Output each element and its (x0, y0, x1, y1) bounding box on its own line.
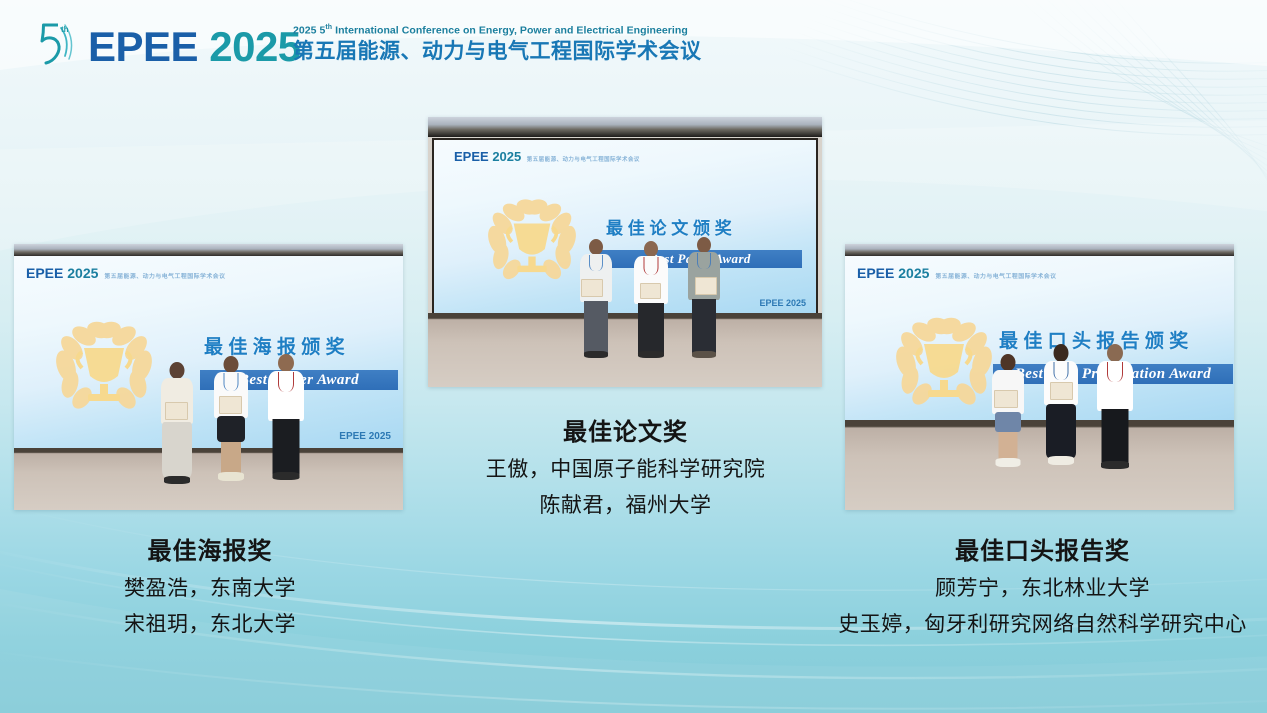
wordmark-year: 2025 (209, 23, 300, 70)
certificate (1050, 382, 1073, 400)
person-shoes (996, 458, 1021, 467)
certificate (994, 390, 1018, 408)
person-legs (217, 416, 245, 442)
screen-logo-cn: 第五届能源、动力与电气工程国际学术会议 (935, 274, 1056, 280)
caption-best-oral: 最佳口头报告奖 顾芳宁，东北林业大学 史玉婷，匈牙利研究网络自然科学研究中心 (830, 534, 1255, 642)
person-legs (273, 419, 300, 474)
caption-line-2: 史玉婷，匈牙利研究网络自然科学研究中心 (830, 606, 1255, 642)
person-lanyard (697, 253, 711, 269)
screen-logo-epee: EPEE (454, 149, 489, 164)
person-shoes (218, 472, 244, 481)
person-head (697, 237, 711, 253)
person-lower-legs (999, 432, 1018, 460)
epee-wordmark: EPEE 2025 (88, 26, 301, 68)
certificate (219, 396, 242, 414)
person-lanyard (644, 257, 659, 275)
caption-line-2: 宋祖玥，东北大学 (20, 606, 400, 642)
person-legs (1102, 409, 1129, 463)
person-head (170, 362, 185, 379)
conference-title-cn: 第五届能源、动力与电气工程国际学术会议 (293, 39, 713, 65)
person-legs (162, 422, 192, 478)
screen-footer-logo: EPEE 2025 (339, 432, 391, 442)
person-shoes (584, 351, 608, 358)
person-lanyard (589, 255, 603, 271)
screen-footer-year: 2025 (786, 298, 806, 308)
person-legs (584, 301, 608, 353)
wreath-trophy-svg (883, 314, 1005, 410)
photo-inner-best-poster: EPEE 2025 第五届能源、动力与电气工程国际学术会议 (14, 244, 403, 510)
screen-footer-epee: EPEE (339, 431, 366, 442)
person-head (644, 241, 658, 257)
screen-epee-logo: EPEE 2025 第五届能源、动力与电气工程国际学术会议 (26, 266, 225, 281)
award-photo-best-paper: EPEE 2025 第五届能源、动力与电气工程国际学术会议 (428, 117, 822, 387)
caption-line-1: 王傲，中国原子能科学研究院 (433, 451, 818, 487)
screen-epee-logo: EPEE 2025 第五届能源、动力与电气工程国际学术会议 (454, 150, 640, 163)
laurel-wreath-icon (476, 196, 588, 284)
person-head (1054, 344, 1069, 362)
screen-logo-epee: EPEE (857, 265, 894, 281)
screen-footer-epee: EPEE (759, 298, 783, 308)
person-awardee-center (212, 356, 250, 488)
person-legs (1046, 404, 1076, 458)
certificate (640, 283, 661, 299)
slide-root: th EPEE 2025 2025 5th International Conf… (0, 0, 1267, 713)
screen-epee-logo: EPEE 2025 第五届能源、动力与电气工程国际学术会议 (857, 266, 1056, 281)
award-photo-best-poster: EPEE 2025 第五届能源、动力与电气工程国际学术会议 (14, 244, 403, 510)
caption-line-2: 陈献君，福州大学 (433, 487, 818, 523)
wordmark-epee: EPEE (88, 23, 198, 70)
caption-best-poster: 最佳海报奖 樊盈浩，东南大学 宋祖玥，东北大学 (20, 534, 400, 642)
person-shoes (692, 351, 716, 358)
fifth-edition-icon: th (36, 18, 76, 70)
caption-title: 最佳口头报告奖 (830, 534, 1255, 570)
screen-footer-year: 2025 (369, 431, 391, 442)
person-head (1107, 344, 1123, 362)
stage-screen: EPEE 2025 第五届能源、动力与电气工程国际学术会议 (845, 256, 1234, 420)
conference-logo: th EPEE 2025 (36, 18, 301, 70)
stage-screen: EPEE 2025 第五届能源、动力与电气工程国际学术会议 (432, 138, 818, 316)
person-lower-legs (221, 442, 241, 474)
certificate (581, 279, 603, 297)
person-head (278, 354, 294, 372)
person-shoes (273, 472, 300, 480)
person-shoes (638, 351, 664, 358)
laurel-wreath-icon (883, 314, 1005, 410)
person-awardee-left (159, 362, 195, 488)
award-photo-best-oral: EPEE 2025 第五届能源、动力与电气工程国际学术会议 (845, 244, 1234, 510)
screen-logo-cn: 第五届能源、动力与电气工程国际学术会议 (527, 157, 640, 163)
person-shoes (1101, 461, 1129, 469)
stage-floor (428, 313, 822, 387)
photo-inner-best-oral: EPEE 2025 第五届能源、动力与电气工程国际学术会议 (845, 244, 1234, 510)
wreath-trophy-svg (476, 196, 588, 284)
person-awardee-left (990, 354, 1026, 474)
ceiling-strip (428, 117, 822, 137)
certificate (165, 402, 188, 420)
person-legs (995, 412, 1021, 432)
caption-line-1: 顾芳宁，东北林业大学 (830, 570, 1255, 606)
conference-title-block: 2025 5th International Conference on Ene… (293, 24, 713, 65)
caption-title: 最佳论文奖 (433, 415, 818, 451)
screen-footer-logo: EPEE 2025 (759, 299, 806, 308)
screen-logo-cn: 第五届能源、动力与电气工程国际学术会议 (104, 274, 225, 280)
person-presenter-right (1095, 344, 1135, 478)
person-shoes (164, 476, 190, 484)
caption-line-1: 樊盈浩，东南大学 (20, 570, 400, 606)
person-lanyard (1107, 362, 1123, 382)
person-lanyard (278, 372, 294, 392)
stage-floor (14, 448, 403, 510)
screen-award-title-cn: 最佳论文颁奖 (606, 220, 737, 237)
page-header: th EPEE 2025 2025 5th International Conf… (0, 0, 1267, 96)
conference-title-en: 2025 5th International Conference on Ene… (293, 24, 713, 37)
person-head (1001, 354, 1016, 371)
person-head (224, 356, 239, 373)
person-legs (638, 303, 664, 353)
screen-logo-year: 2025 (492, 149, 521, 164)
title-en-prefix: 2025 5 (293, 25, 325, 37)
certificate (695, 277, 717, 295)
stage-floor (845, 420, 1234, 510)
screen-logo-year: 2025 (898, 265, 929, 281)
stage-screen: EPEE 2025 第五届能源、动力与电气工程国际学术会议 (14, 256, 403, 448)
person-head (589, 239, 603, 255)
person-awardee-right (686, 237, 722, 363)
stylized-five-icon: th (36, 18, 76, 70)
person-awardee-center (1042, 344, 1080, 474)
laurel-wreath-icon (42, 318, 166, 414)
person-legs (692, 299, 716, 353)
person-presenter-center (632, 241, 670, 363)
title-en-rest: International Conference on Energy, Powe… (332, 25, 688, 37)
photo-inner-best-paper: EPEE 2025 第五届能源、动力与电气工程国际学术会议 (428, 117, 822, 387)
person-lanyard (224, 373, 239, 391)
screen-logo-epee: EPEE (26, 265, 63, 281)
wreath-trophy-svg (42, 318, 166, 414)
svg-text:th: th (61, 25, 69, 34)
screen-logo-year: 2025 (67, 265, 98, 281)
caption-best-paper: 最佳论文奖 王傲，中国原子能科学研究院 陈献君，福州大学 (433, 415, 818, 523)
person-presenter-right (266, 354, 306, 488)
caption-title: 最佳海报奖 (20, 534, 400, 570)
person-shoes (1048, 456, 1074, 465)
person-lanyard (1054, 362, 1069, 380)
person-awardee-left (578, 239, 614, 363)
